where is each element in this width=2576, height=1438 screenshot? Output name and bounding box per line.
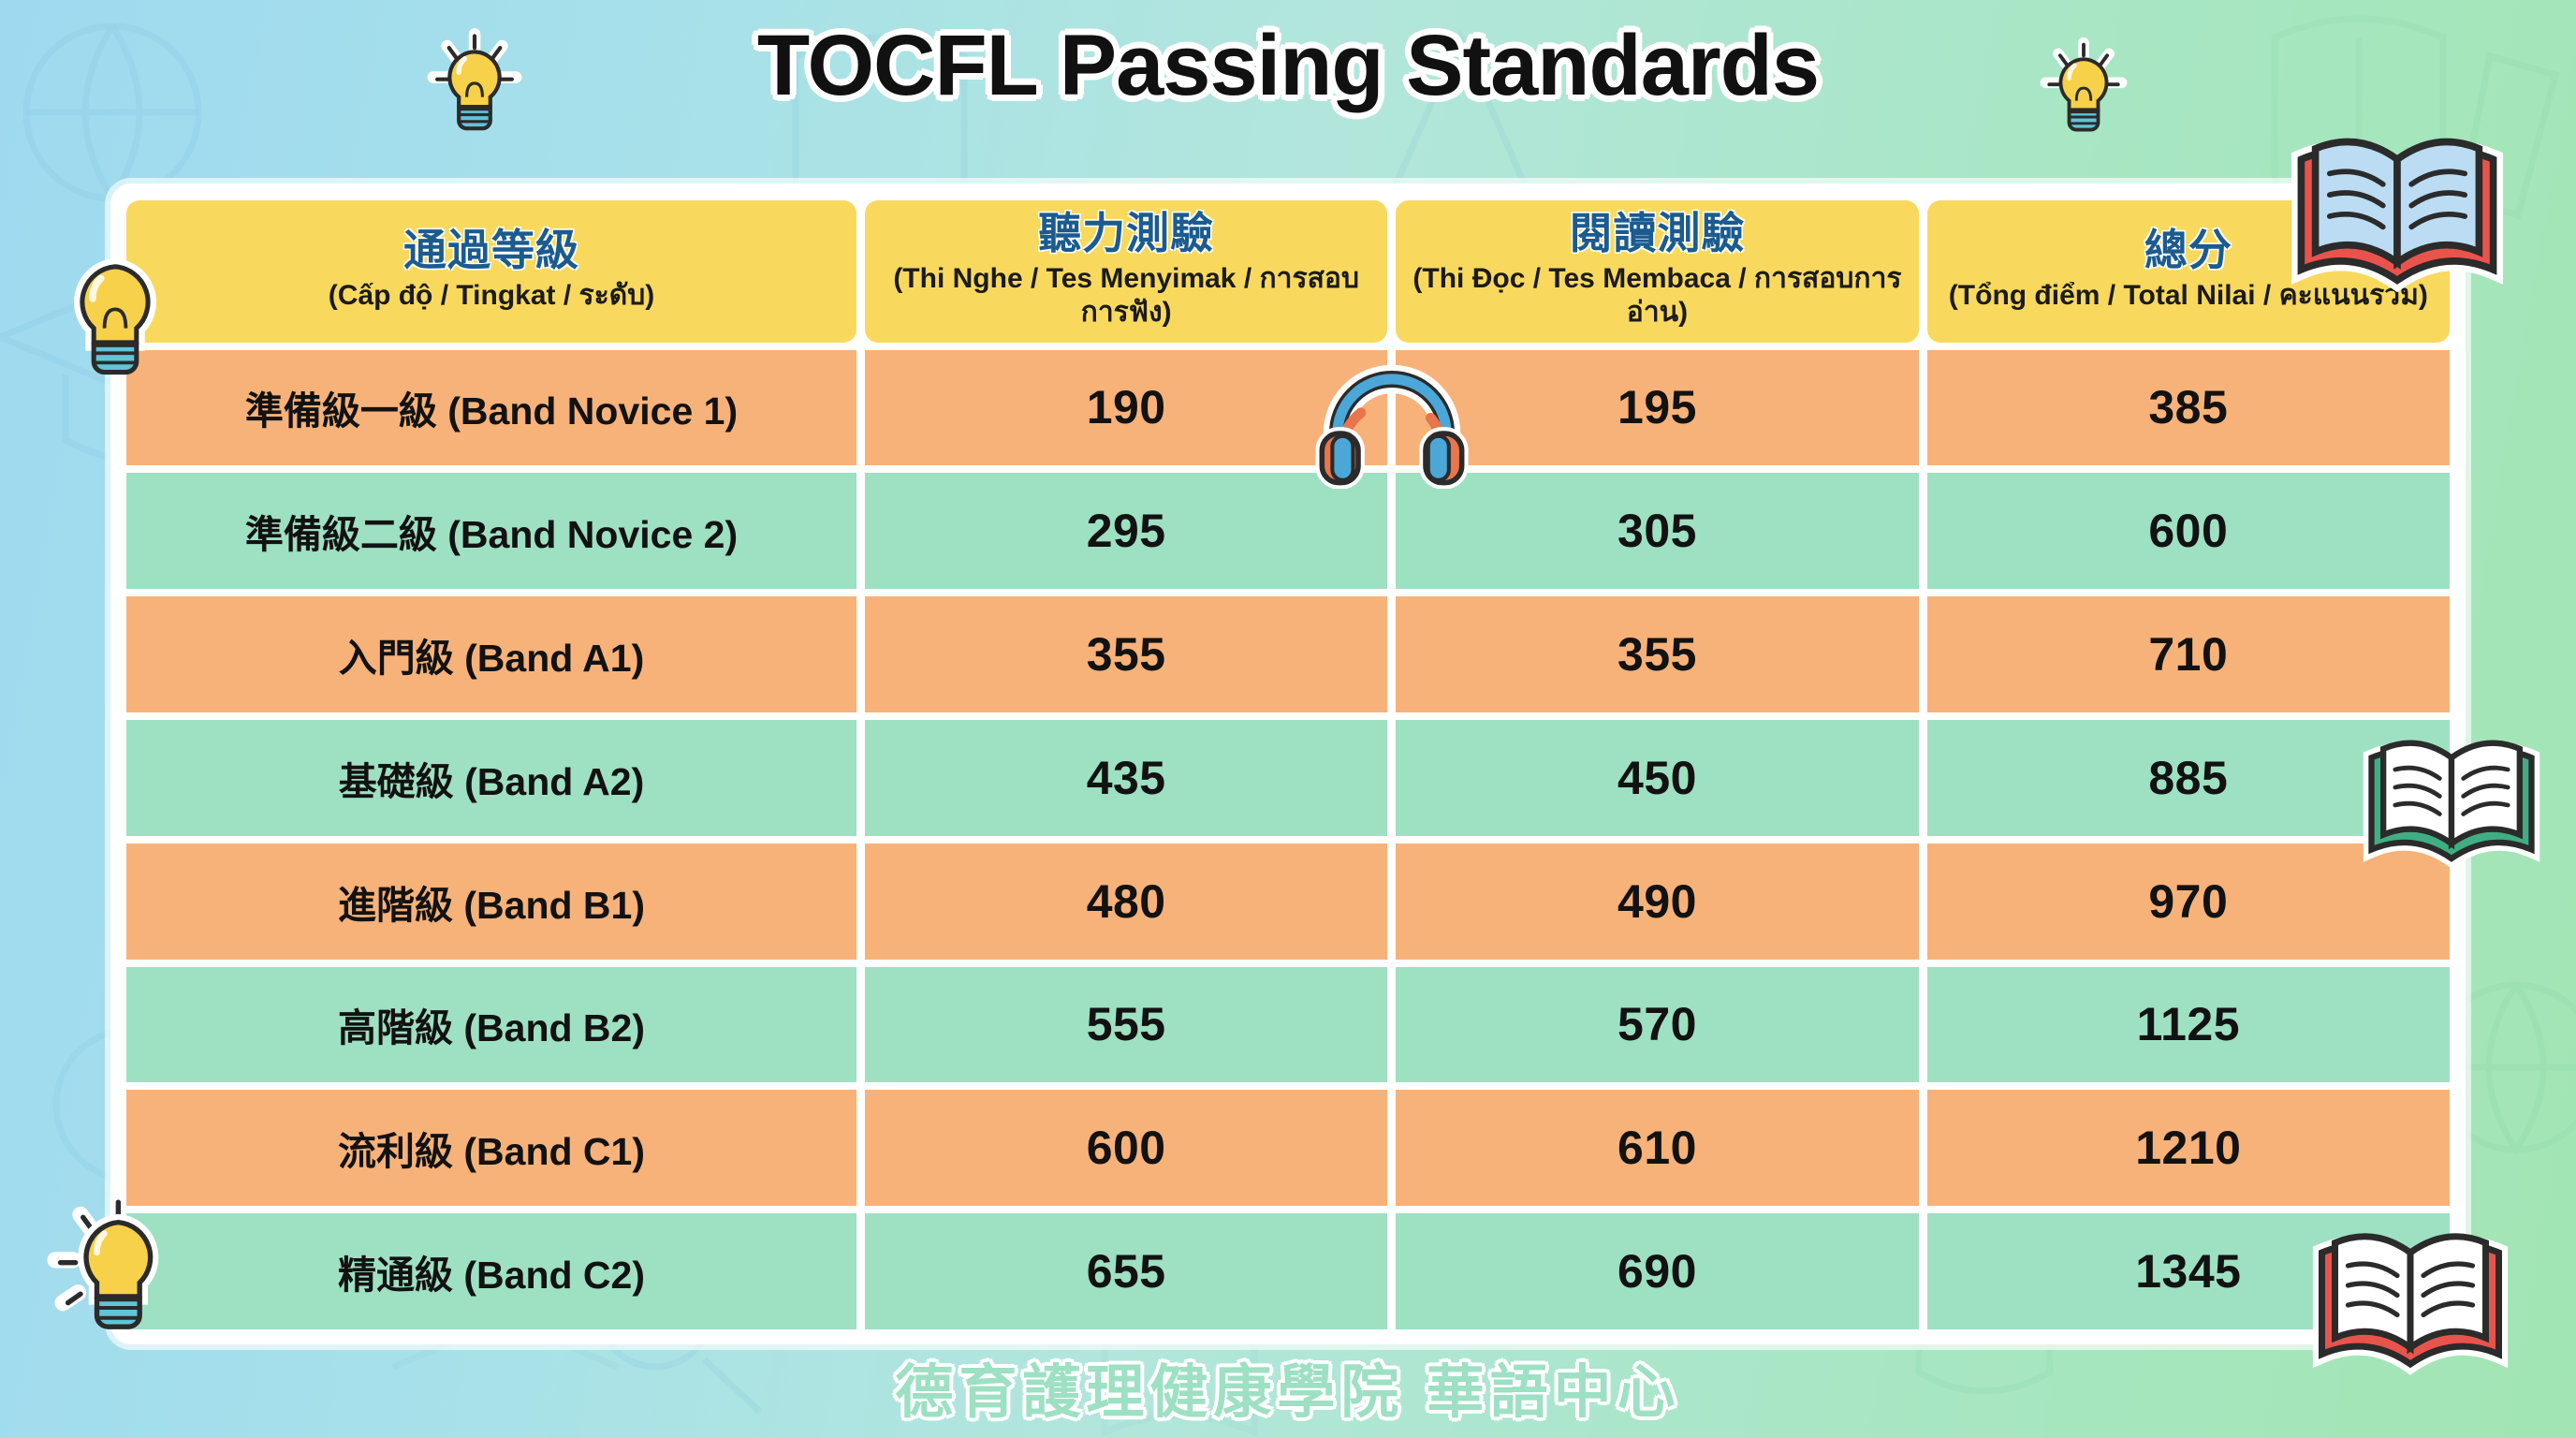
lightbulb-icon bbox=[423, 26, 526, 144]
cell-reading-score: 305 bbox=[1396, 473, 1918, 589]
open-book-icon bbox=[2312, 1223, 2509, 1387]
lightbulb-icon bbox=[54, 245, 176, 388]
cell-listening-score: 555 bbox=[865, 967, 1387, 1083]
header-cell-grade: 通過等級 (Cấp độ / Tingkat / ระดับ) bbox=[126, 200, 856, 343]
table-row: 準備級二級 (Band Novice 2)295305600 bbox=[126, 473, 2450, 589]
cell-listening-score: 295 bbox=[865, 473, 1387, 589]
cell-listening-score: 480 bbox=[865, 844, 1387, 960]
cell-listening-score: 190 bbox=[865, 350, 1387, 466]
cell-level: 準備級一級 (Band Novice 1) bbox=[126, 350, 856, 466]
open-book-icon bbox=[2363, 730, 2540, 880]
header-cell-listening: 聽力測驗 (Thi Nghe / Tes Menyimak / การสอบกา… bbox=[865, 200, 1387, 343]
table-row: 高階級 (Band B2)5555701125 bbox=[126, 967, 2450, 1083]
tocfl-standards-table: 通過等級 (Cấp độ / Tingkat / ระดับ) 聽力測驗 (Th… bbox=[118, 193, 2458, 1337]
header-listening-cn: 聽力測驗 bbox=[874, 210, 1378, 258]
header-listening-sub: (Thi Nghe / Tes Menyimak / การสอบการฟัง) bbox=[874, 262, 1378, 330]
cell-listening-score: 435 bbox=[865, 720, 1387, 836]
cell-level: 進階級 (Band B1) bbox=[126, 844, 856, 960]
footer: 德育護理健康學院 華語中心 bbox=[0, 1344, 2576, 1429]
table-header: 通過等級 (Cấp độ / Tingkat / ระดับ) 聽力測驗 (Th… bbox=[126, 200, 2450, 343]
header-reading-sub: (Thi Đọc / Tes Membaca / การสอบการอ่าน) bbox=[1405, 262, 1909, 330]
table-row: 流利級 (Band C1)6006101210 bbox=[126, 1090, 2450, 1206]
table-row: 入門級 (Band A1)355355710 bbox=[126, 596, 2450, 712]
table-row: 進階級 (Band B1)480490970 bbox=[126, 844, 2450, 960]
table-row: 準備級一級 (Band Novice 1)190195385 bbox=[126, 350, 2450, 466]
title-bar: TOCFL Passing Standards bbox=[0, 6, 2576, 125]
lightbulb-icon bbox=[2037, 36, 2130, 144]
cell-level: 基礎級 (Band A2) bbox=[126, 720, 856, 836]
cell-reading-score: 570 bbox=[1396, 967, 1918, 1083]
cell-reading-score: 195 bbox=[1396, 350, 1918, 466]
cell-listening-score: 655 bbox=[865, 1213, 1387, 1329]
cell-listening-score: 600 bbox=[865, 1090, 1387, 1206]
cell-level: 準備級二級 (Band Novice 2) bbox=[126, 473, 856, 589]
cell-level: 流利級 (Band C1) bbox=[126, 1090, 856, 1206]
header-grade-cn: 通過等級 bbox=[136, 227, 847, 275]
standards-table-frame: 通過等級 (Cấp độ / Tingkat / ระดับ) 聽力測驗 (Th… bbox=[110, 183, 2466, 1344]
header-row: 通過等級 (Cấp độ / Tingkat / ระดับ) 聽力測驗 (Th… bbox=[126, 200, 2450, 343]
page-title: TOCFL Passing Standards bbox=[757, 22, 1819, 109]
lightbulb-icon bbox=[47, 1187, 187, 1348]
cell-total-score: 385 bbox=[1927, 350, 2450, 466]
cell-reading-score: 355 bbox=[1396, 596, 1918, 712]
table-body: 準備級一級 (Band Novice 1)190195385準備級二級 (Ban… bbox=[126, 350, 2450, 1329]
cell-total-score: 1125 bbox=[1927, 967, 2450, 1083]
header-reading-cn: 閱讀測驗 bbox=[1405, 210, 1909, 258]
table-row: 基礎級 (Band A2)435450885 bbox=[126, 720, 2450, 836]
cell-level: 高階級 (Band B2) bbox=[126, 967, 856, 1083]
cell-level: 精通級 (Band C2) bbox=[126, 1213, 856, 1329]
cell-level: 入門級 (Band A1) bbox=[126, 596, 856, 712]
cell-reading-score: 690 bbox=[1396, 1213, 1918, 1329]
open-book-icon bbox=[2284, 127, 2510, 305]
header-cell-reading: 閱讀測驗 (Thi Đọc / Tes Membaca / การสอบการอ… bbox=[1396, 200, 1918, 343]
cell-reading-score: 610 bbox=[1396, 1090, 1918, 1206]
headphones-icon bbox=[1314, 358, 1470, 489]
cell-total-score: 600 bbox=[1927, 473, 2450, 589]
cell-reading-score: 450 bbox=[1396, 720, 1918, 836]
cell-listening-score: 355 bbox=[865, 596, 1387, 712]
cell-total-score: 1210 bbox=[1927, 1090, 2450, 1206]
institution-name: 德育護理健康學院 華語中心 bbox=[895, 1360, 1680, 1425]
cell-reading-score: 490 bbox=[1396, 844, 1918, 960]
cell-total-score: 710 bbox=[1927, 596, 2450, 712]
table-row: 精通級 (Band C2)6556901345 bbox=[126, 1213, 2450, 1329]
header-grade-sub: (Cấp độ / Tingkat / ระดับ) bbox=[136, 279, 847, 313]
